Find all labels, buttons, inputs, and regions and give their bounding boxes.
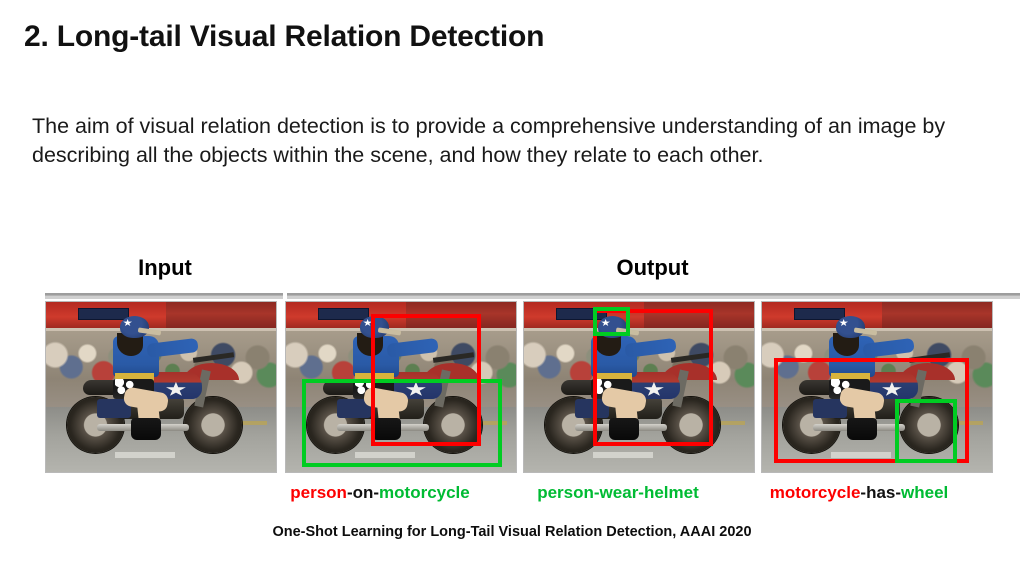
store-sign	[78, 308, 129, 320]
figure-output-motorcycle-has-wheel	[761, 301, 993, 473]
parade-photo	[286, 302, 516, 472]
relation-object: motorcycle	[379, 483, 470, 502]
relation-full: person-wear-helmet	[537, 483, 699, 502]
relation-subject: motorcycle	[770, 483, 861, 502]
motorcycle-front-wheel	[900, 397, 958, 453]
lane-marking	[355, 452, 415, 458]
relation-subject: person	[290, 483, 347, 502]
parade-photo	[46, 302, 276, 472]
relation-object: wheel	[901, 483, 948, 502]
figure-strip	[45, 301, 1020, 473]
paper-citation: One-Shot Learning for Long-Tail Visual R…	[0, 524, 1024, 540]
figure-input-image	[45, 301, 277, 473]
column-heading-output: Output	[285, 255, 1020, 281]
separator-bar-output	[287, 293, 1020, 299]
figure-output-person-wear-helmet	[523, 301, 755, 473]
parade-photo	[524, 302, 754, 472]
rider-helmet	[836, 316, 866, 338]
rider-helmet	[360, 316, 390, 338]
motorcycle-front-wheel	[424, 397, 482, 453]
separator-bar-input	[45, 293, 283, 299]
lane-marking	[115, 452, 175, 458]
relation-predicate: -on-	[347, 483, 379, 502]
rider-boot	[131, 418, 161, 440]
rider-boot	[371, 418, 401, 440]
rider-helmet	[598, 316, 628, 338]
rider-boot	[609, 418, 639, 440]
column-heading-input: Input	[45, 255, 285, 281]
figure-output-person-on-motorcycle	[285, 301, 517, 473]
motorcycle-front-wheel	[184, 397, 242, 453]
store-sign	[794, 308, 845, 320]
lane-marking	[593, 452, 653, 458]
page-title: 2. Long-tail Visual Relation Detection	[24, 20, 544, 54]
store-sign	[318, 308, 369, 320]
parade-photo	[762, 302, 992, 472]
motorcycle-front-wheel	[662, 397, 720, 453]
rider-boot	[847, 418, 877, 440]
relation-caption-motorcycle-has-wheel: motorcycle-has-wheel	[714, 483, 1004, 503]
rider-helmet	[120, 316, 150, 338]
relation-predicate: -has-	[860, 483, 901, 502]
lane-marking	[831, 452, 891, 458]
body-paragraph: The aim of visual relation detection is …	[32, 112, 972, 170]
store-sign	[556, 308, 607, 320]
